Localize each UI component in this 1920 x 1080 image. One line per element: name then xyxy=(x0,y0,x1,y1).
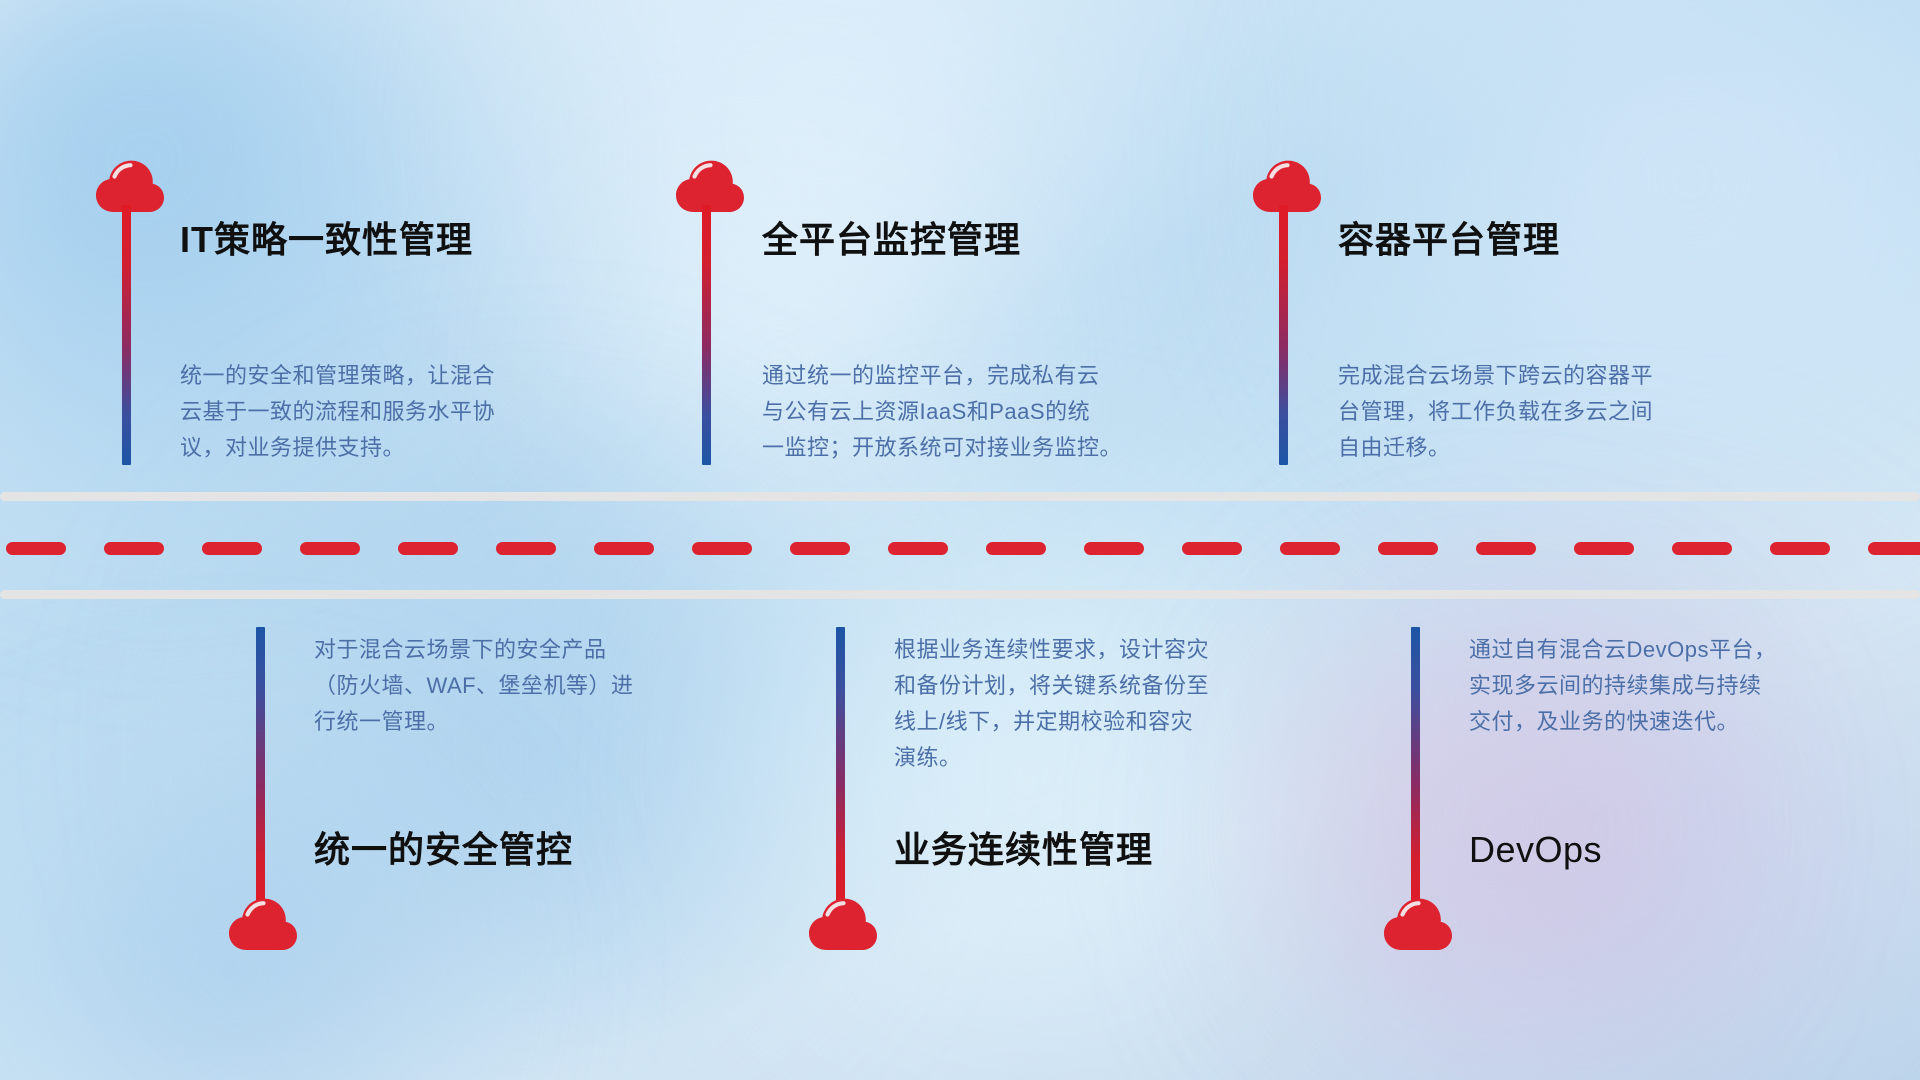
infographic-canvas: IT策略一致性管理 统一的安全和管理策略，让混合 云基于一致的流程和服务水平协 … xyxy=(0,0,1920,1080)
dash-segment xyxy=(1378,542,1438,555)
divider-rule-top xyxy=(0,492,1920,501)
dash-segment xyxy=(1084,542,1144,555)
dash-segment xyxy=(1280,542,1340,555)
cloud-icon xyxy=(228,898,298,952)
feature-description: 通过自有混合云DevOps平台， 实现多云间的持续集成与持续 交付，及业务的快速… xyxy=(1469,632,1899,740)
feature-title: 业务连续性管理 xyxy=(894,828,1153,871)
dash-segment xyxy=(1476,542,1536,555)
feature-title: DevOps xyxy=(1469,828,1602,871)
red-dashed-divider xyxy=(0,542,1920,555)
cloud-icon xyxy=(808,898,878,952)
connector-stem xyxy=(836,627,845,915)
dash-segment xyxy=(692,542,752,555)
feature-title: 全平台监控管理 xyxy=(762,218,1021,261)
dash-segment xyxy=(1770,542,1830,555)
dash-segment xyxy=(986,542,1046,555)
dash-segment xyxy=(1182,542,1242,555)
dash-segment xyxy=(398,542,458,555)
connector-stem xyxy=(122,205,131,465)
dash-segment xyxy=(1672,542,1732,555)
connector-stem xyxy=(702,205,711,465)
feature-description: 统一的安全和管理策略，让混合 云基于一致的流程和服务水平协 议，对业务提供支持。 xyxy=(180,358,620,466)
dash-segment xyxy=(888,542,948,555)
feature-description: 根据业务连续性要求，设计容灾 和备份计划，将关键系统备份至 线上/线下，并定期校… xyxy=(894,632,1334,776)
cloud-icon xyxy=(1383,898,1453,952)
dash-segment xyxy=(6,542,66,555)
feature-description: 完成混合云场景下跨云的容器平 台管理，将工作负载在多云之间 自由迁移。 xyxy=(1338,358,1798,466)
dash-segment xyxy=(496,542,556,555)
feature-title: IT策略一致性管理 xyxy=(180,218,473,261)
dash-segment xyxy=(1574,542,1634,555)
feature-title: 统一的安全管控 xyxy=(314,828,573,871)
dash-segment xyxy=(1868,542,1920,555)
dash-segment xyxy=(202,542,262,555)
divider-rule-bottom xyxy=(0,590,1920,599)
connector-stem xyxy=(1279,205,1288,465)
dash-segment xyxy=(594,542,654,555)
feature-description: 通过统一的监控平台，完成私有云 与公有云上资源IaaS和PaaS的统 一监控；开… xyxy=(762,358,1222,466)
dash-segment xyxy=(104,542,164,555)
feature-title: 容器平台管理 xyxy=(1338,218,1560,261)
connector-stem xyxy=(256,627,265,915)
dash-segment xyxy=(300,542,360,555)
feature-description: 对于混合云场景下的安全产品 （防火墙、WAF、堡垒机等）进 行统一管理。 xyxy=(314,632,754,740)
connector-stem xyxy=(1411,627,1420,915)
dash-segment xyxy=(790,542,850,555)
